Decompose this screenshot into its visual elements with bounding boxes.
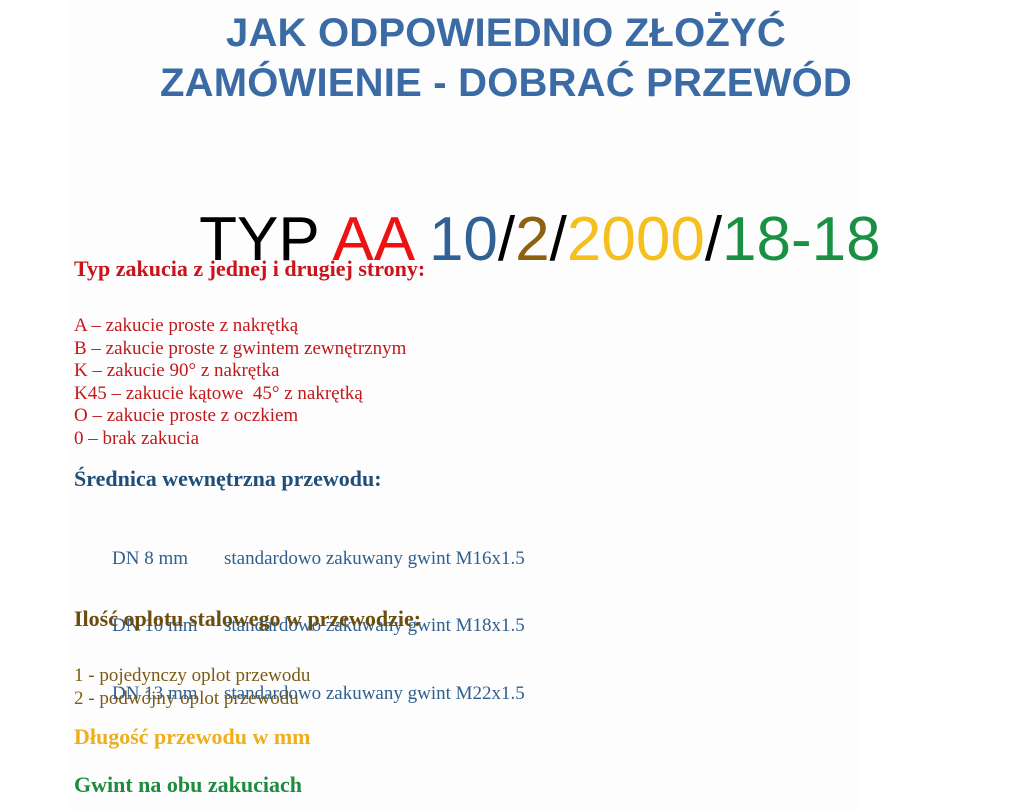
code-separator-1: / bbox=[498, 205, 515, 274]
code-separator-2: / bbox=[550, 205, 567, 274]
list-item: 2 - podwójny oplot przewodu bbox=[74, 688, 421, 711]
code-length-segment: 2000 bbox=[567, 205, 705, 274]
code-separator-3: / bbox=[705, 205, 722, 274]
list-item: 1 - pojedynczy oplot przewodu bbox=[74, 665, 421, 688]
diameter-description: standardowo zakuwany gwint M16x1.5 bbox=[224, 548, 525, 571]
code-diameter-segment: 10 bbox=[429, 205, 498, 274]
section-thread-heading: Gwint na obu zakuciach bbox=[74, 772, 302, 798]
section-hose-length: Długość przewodu w mm bbox=[74, 724, 311, 750]
list-item: 0 – brak zakucia bbox=[74, 428, 425, 451]
section-length-heading: Długość przewodu w mm bbox=[74, 724, 311, 750]
list-item: B – zakucie proste z gwintem zewnętrznym bbox=[74, 338, 425, 361]
section-crimp-type: Typ zakucia z jednej i drugiej strony: A… bbox=[74, 256, 425, 451]
list-item: O – zakucie proste z oczkiem bbox=[74, 405, 425, 428]
code-braid-segment: 2 bbox=[515, 205, 549, 274]
section-braid-heading: Ilość oplotu stalowego w przewodzie: bbox=[74, 606, 421, 632]
page-title-line-2: ZAMÓWIENIE - DOBRAĆ PRZEWÓD bbox=[0, 58, 1012, 108]
list-item: DN 8 mmstandardowo zakuwany gwint M16x1.… bbox=[74, 525, 525, 593]
list-item: K45 – zakucie kątowe 45° z nakrętką bbox=[74, 383, 425, 406]
section-braid-count: Ilość oplotu stalowego w przewodzie: 1 -… bbox=[74, 606, 421, 710]
section-crimp-list: A – zakucie proste z nakrętką B – zakuci… bbox=[74, 315, 425, 451]
slide-canvas: JAK ODPOWIEDNIO ZŁOŻYĆ ZAMÓWIENIE - DOBR… bbox=[0, 0, 1012, 811]
section-diameter-heading: Średnica wewnętrzna przewodu: bbox=[74, 466, 525, 492]
diameter-size: DN 8 mm bbox=[112, 548, 224, 571]
page-title: JAK ODPOWIEDNIO ZŁOŻYĆ ZAMÓWIENIE - DOBR… bbox=[0, 8, 1012, 108]
list-item: K – zakucie 90° z nakrętka bbox=[74, 360, 425, 383]
section-crimp-heading: Typ zakucia z jednej i drugiej strony: bbox=[74, 256, 425, 282]
page-title-line-1: JAK ODPOWIEDNIO ZŁOŻYĆ bbox=[0, 8, 1012, 58]
list-item: A – zakucie proste z nakrętką bbox=[74, 315, 425, 338]
code-thread-segment: 18-18 bbox=[722, 205, 881, 274]
section-braid-list: 1 - pojedynczy oplot przewodu 2 - podwój… bbox=[74, 665, 421, 710]
section-thread: Gwint na obu zakuciach bbox=[74, 772, 302, 798]
